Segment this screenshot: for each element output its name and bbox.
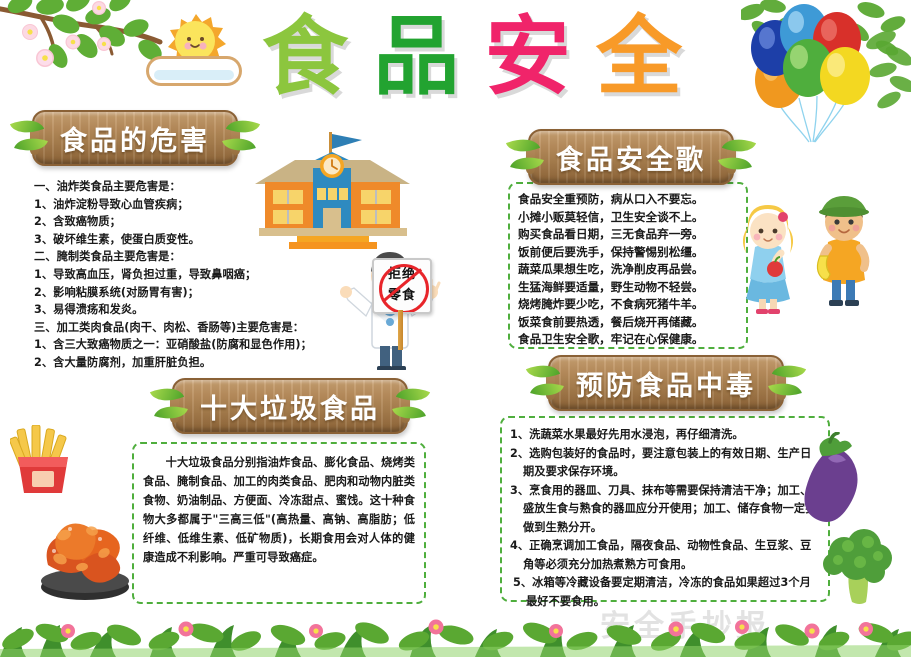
broccoli-icon: [822, 520, 894, 606]
no-snacks-sign[interactable]: 拒绝 零食: [372, 258, 432, 314]
section-heading-song: 食品安全歌: [528, 131, 734, 183]
grass-flowers-border-icon: [0, 605, 911, 657]
sun-mascot-icon: [140, 8, 250, 100]
prevent-item-0: 1、洗蔬菜水果最好先用水浸泡，再仔细清洗。: [510, 426, 820, 445]
leaf-icon: [718, 151, 752, 176]
leaf-icon: [392, 400, 426, 425]
section-heading-junk: 十大垃圾食品: [172, 380, 408, 432]
harm-line-0: 一、油炸类食品主要危害是：: [34, 178, 434, 196]
section-heading-harm: 食品的危害: [32, 112, 238, 164]
title-char-2: 安: [485, 14, 571, 100]
song-line-4: 蔬菜瓜果想生吃，洗净削皮再品尝。: [518, 261, 740, 279]
song-line-1: 小摊小贩莫轻信，卫生安全谈不上。: [518, 209, 740, 227]
leaf-icon: [10, 113, 44, 140]
girl-eating-apple-icon: [737, 205, 799, 315]
leaf-icon: [510, 151, 544, 176]
poster-canvas: 食 品 安 全: [0, 0, 911, 657]
song-line-0: 食品安全重预防，病从口入不要忘。: [518, 191, 740, 209]
harm-line-2: 2、含致癌物质；: [34, 213, 434, 231]
section-heading-prevent: 预防食品中毒: [548, 357, 784, 409]
leaf-icon: [768, 377, 802, 402]
junk-content-box: 十大垃圾食品分别指油炸食品、膨化食品、烧烤类食品、腌制食品、加工的肉类食品、肥肉…: [132, 442, 426, 604]
leaf-icon: [506, 132, 540, 159]
song-line-2: 购买食品看日期，三无食品弃一旁。: [518, 226, 740, 244]
song-line-7: 饭菜食前要热透，餐后烧开再储藏。: [518, 314, 740, 332]
song-line-5: 生猛海鲜要适量，野生动物不轻尝。: [518, 279, 740, 297]
leaf-icon: [154, 400, 188, 425]
leaf-icon: [150, 381, 184, 408]
title-char-1: 品: [373, 14, 459, 100]
song-line-8: 食品卫生安全歌，牢记在心保健康。: [518, 331, 740, 349]
prohibition-circle-icon: [379, 264, 429, 314]
title-char-3: 全: [596, 14, 682, 100]
heading-text: 食品的危害: [60, 119, 210, 158]
junk-paragraph: 十大垃圾食品分别指油炸食品、膨化食品、烧烤类食品、腌制食品、加工的肉类食品、肥肉…: [143, 453, 415, 567]
balloons-icon: [741, 0, 909, 145]
leaf-icon: [526, 358, 560, 385]
fried-chicken-icon: [30, 495, 140, 605]
sign-board: 拒绝 零食: [372, 258, 432, 314]
heading-text: 食品安全歌: [556, 138, 706, 177]
title-char-0: 食: [262, 14, 348, 100]
boy-holding-banana-icon: [808, 190, 880, 315]
prevent-content-box: 1、洗蔬菜水果最好先用水浸泡，再仔细清洗。 2、选购包装好的食品时，要注意包装上…: [500, 416, 830, 602]
french-fries-icon: [10, 425, 76, 495]
song-line-3: 饭前便后要洗手，保持警惕别松缰。: [518, 244, 740, 262]
leaf-icon: [530, 377, 564, 402]
heading-text: 预防食品中毒: [576, 364, 756, 403]
song-content-box: 食品安全重预防，病从口入不要忘。 小摊小贩莫轻信，卫生安全谈不上。 购买食品看日…: [508, 182, 748, 349]
leaf-icon: [772, 358, 806, 385]
leaf-icon: [14, 132, 48, 157]
leaf-icon: [396, 381, 430, 408]
prevent-item-1: 2、选购包装好的食品时，要注意包装上的有效日期、生产日期及要求保存环境。: [510, 445, 820, 482]
page-title: 食 品 安 全: [262, 4, 682, 109]
song-line-6: 烧烤腌炸要少吃，不食病死猪牛羊。: [518, 296, 740, 314]
prevent-item-2: 3、烹食用的器皿、刀具、抹布等需要保持清洁干净；加工、盛放生食与熟食的器皿应分开…: [510, 482, 820, 538]
heading-text: 十大垃圾食品: [200, 387, 380, 426]
sign-pole: [398, 310, 403, 350]
prevent-item-3: 4、正确烹调加工食品，隔夜食品、动物性食品、生豆浆、豆角等必须充分加热煮熟方可食…: [510, 537, 820, 574]
harm-line-1: 1、油炸淀粉导致心血管疾病；: [34, 196, 434, 214]
eggplant-icon: [800, 432, 864, 530]
